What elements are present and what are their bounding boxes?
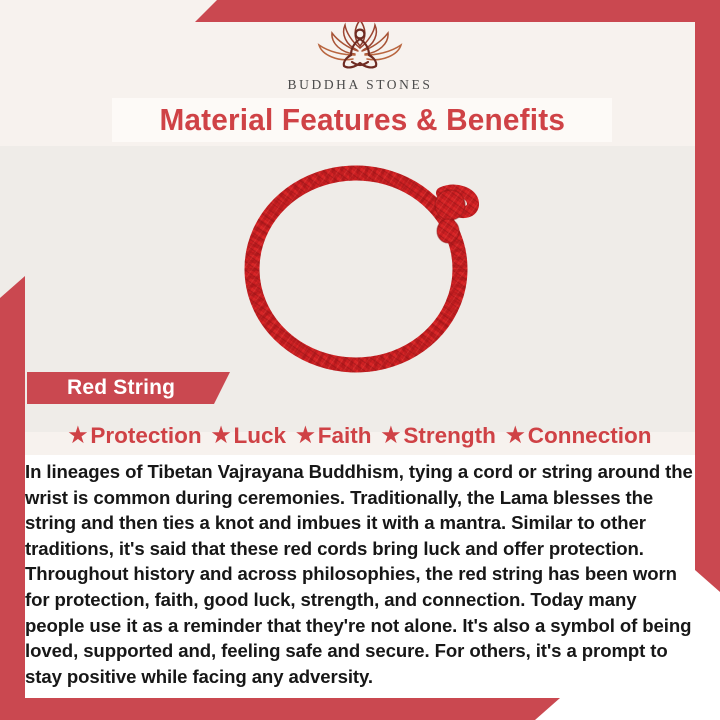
benefits-row: ★ Protection ★ Luck ★ Faith ★ Strength ★… [0, 419, 720, 453]
decor-bottom-red-bar [0, 698, 560, 720]
title-banner: Material Features & Benefits [112, 98, 612, 142]
brand-name: BUDDHA STONES [0, 77, 720, 93]
star-icon: ★ [296, 425, 315, 446]
poster-root: BUDDHA STONES Material Features & Benefi… [0, 0, 720, 720]
benefit-item: ★ Connection [503, 423, 655, 449]
star-icon: ★ [506, 425, 525, 446]
benefit-item: ★ Luck [209, 423, 289, 449]
lotus-meditation-icon [308, 14, 412, 74]
star-icon: ★ [212, 425, 231, 446]
brand-logo: BUDDHA STONES [0, 14, 720, 93]
benefit-item: ★ Protection [66, 423, 205, 449]
decor-top-red-bar [195, 0, 720, 22]
star-icon: ★ [382, 425, 401, 446]
benefit-item: ★ Strength [379, 423, 499, 449]
product-label-banner: Red String [27, 372, 230, 404]
decor-left-red-bar [0, 276, 25, 720]
benefit-label: Protection [90, 423, 201, 449]
benefit-item: ★ Faith [293, 423, 375, 449]
decor-right-red-bar [695, 22, 720, 592]
benefit-label: Strength [403, 423, 496, 449]
product-image [0, 150, 720, 380]
star-icon: ★ [69, 425, 88, 446]
description-text: In lineages of Tibetan Vajrayana Buddhis… [25, 459, 697, 689]
product-label: Red String [27, 376, 175, 400]
page-title: Material Features & Benefits [159, 102, 565, 138]
benefit-label: Connection [528, 423, 652, 449]
red-string-bracelet-icon [224, 157, 496, 373]
benefit-label: Luck [233, 423, 286, 449]
benefit-label: Faith [318, 423, 372, 449]
